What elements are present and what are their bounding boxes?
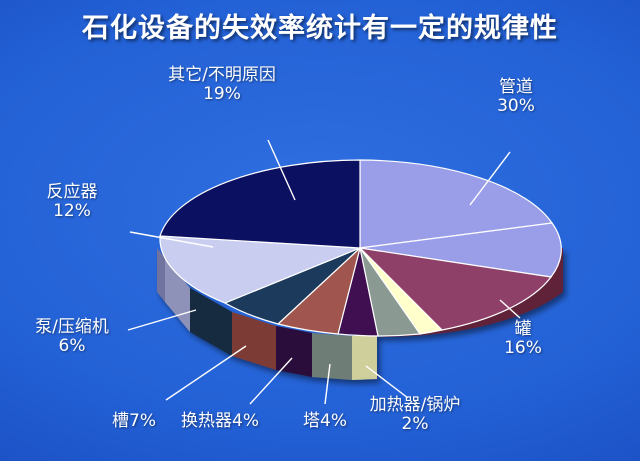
label-pipe-value: 30%	[461, 97, 571, 116]
label-heater: 加热器/锅炉 2%	[355, 396, 475, 434]
label-other-name: 其它/不明原因	[122, 66, 322, 85]
label-tank: 罐 16%	[478, 320, 568, 358]
label-heater-name: 加热器/锅炉	[355, 396, 475, 415]
label-reactor: 反应器 12%	[22, 183, 122, 221]
label-tower-name: 塔4%	[282, 412, 368, 431]
label-exchanger: 换热器4%	[161, 412, 279, 431]
label-tower: 塔4%	[282, 412, 368, 431]
label-pump: 泵/压缩机 6%	[12, 318, 132, 356]
label-trough: 槽7%	[94, 412, 174, 431]
label-pipe: 管道 30%	[461, 78, 571, 116]
label-other: 其它/不明原因 19%	[122, 66, 322, 104]
label-other-value: 19%	[122, 85, 322, 104]
label-reactor-value: 12%	[22, 202, 122, 221]
label-heater-value: 2%	[355, 415, 475, 434]
label-pipe-name: 管道	[461, 78, 571, 97]
slice-other	[160, 160, 360, 248]
label-exchanger-name: 换热器4%	[161, 412, 279, 431]
label-pump-name: 泵/压缩机	[12, 318, 132, 337]
label-pump-value: 6%	[12, 337, 132, 356]
label-tank-value: 16%	[478, 339, 568, 358]
label-trough-name: 槽7%	[94, 412, 174, 431]
label-reactor-name: 反应器	[22, 183, 122, 202]
label-tank-name: 罐	[478, 320, 568, 339]
